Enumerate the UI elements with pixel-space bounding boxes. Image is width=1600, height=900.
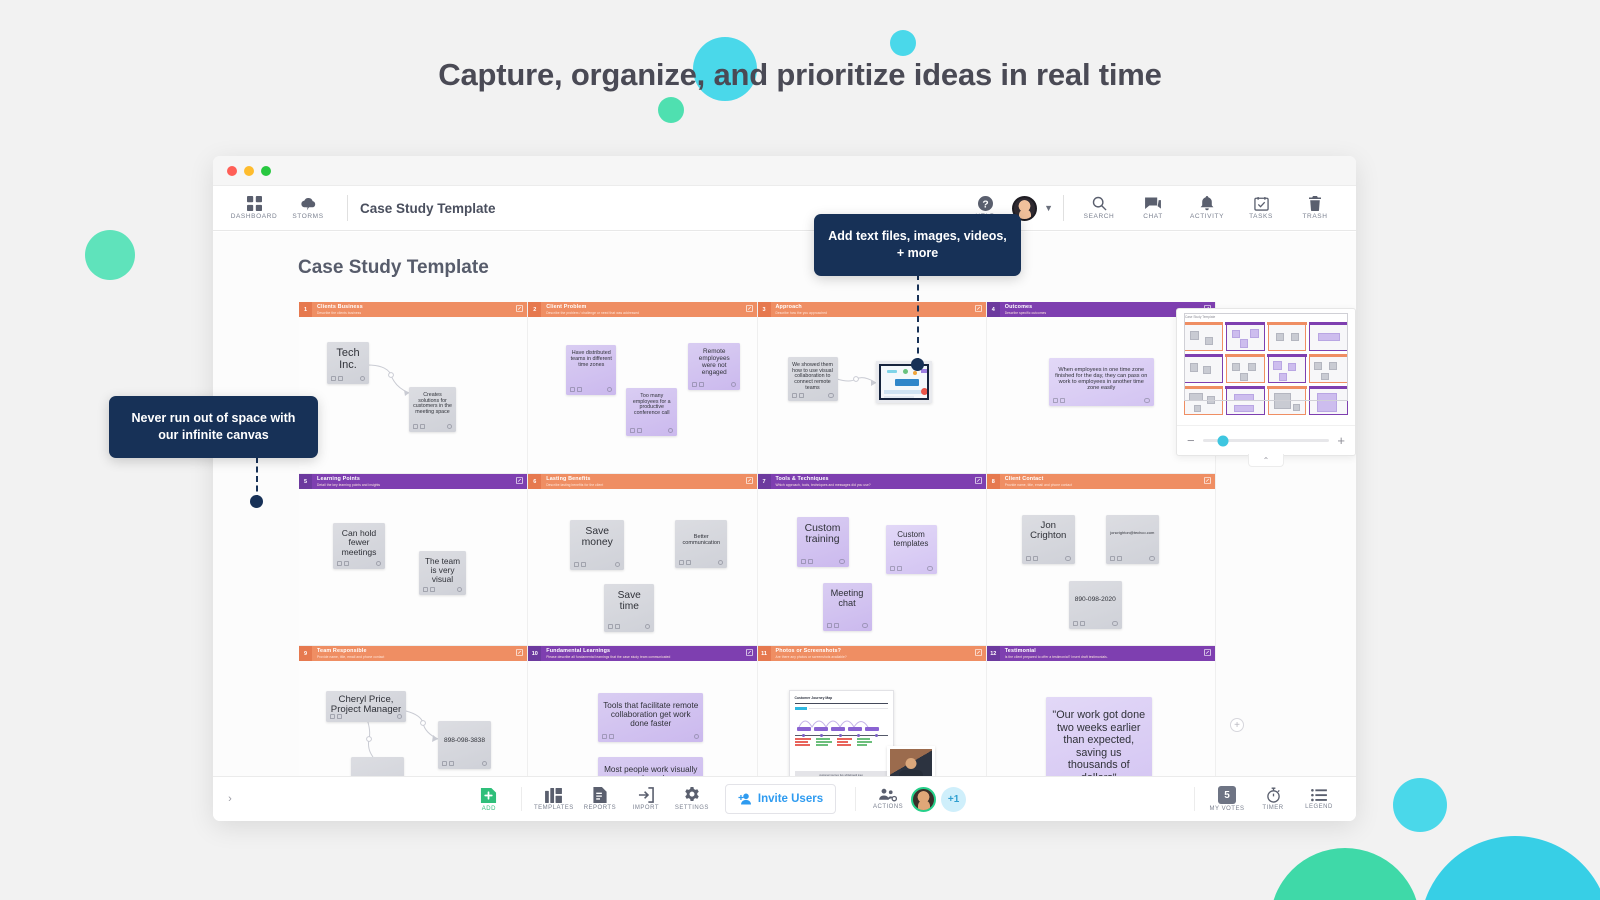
check-icon[interactable] (1144, 398, 1150, 404)
nav-storms-label: STORMS (292, 213, 323, 220)
tooltip-endpoint-dot-files (911, 358, 924, 371)
comment-icon[interactable] (801, 559, 806, 564)
frame-number: 2 (528, 302, 541, 317)
check-icon[interactable] (376, 561, 382, 567)
note-text: Jon Crighton (1026, 521, 1071, 542)
window-maximize-button[interactable] (261, 166, 271, 176)
comment-icon[interactable] (679, 560, 684, 565)
decor-dot-cyan-br2 (1420, 836, 1600, 900)
grid-icon (247, 196, 262, 211)
tooltip-text: Never run out of space with our infinite… (123, 410, 304, 444)
frame-edit-icon[interactable] (516, 305, 523, 312)
attach-icon[interactable] (897, 566, 902, 571)
sticky-note[interactable]: The team is very visual (419, 551, 466, 595)
zoom-out-button[interactable]: − (1187, 433, 1195, 448)
check-icon[interactable] (1065, 556, 1071, 562)
attach-icon[interactable] (699, 382, 704, 387)
frame-number: 4 (987, 302, 1000, 317)
frame-subtitle: Please describe all fundamental learning… (546, 655, 752, 659)
frame-title: Client Problem (546, 304, 752, 310)
frame-tools-techniques[interactable]: 7 Tools & Techniques Which approach, too… (758, 474, 987, 646)
frame-subtitle: Describe the problem / challenge or need… (546, 311, 752, 315)
note-text: Meeting chat (827, 589, 868, 609)
comment-icon[interactable] (570, 387, 575, 392)
legend-list-icon (1311, 789, 1327, 802)
frame-number: 12 (987, 646, 1000, 661)
frame-subtitle: Which approach, tools, techniques and me… (776, 483, 982, 487)
frame-content: Cheryl Price, Project Manager 898-098-38… (305, 661, 527, 776)
frame-header: 7 Tools & Techniques Which approach, too… (758, 474, 986, 489)
bottom-toolbar-center: ADD TEMPLATES REPORTS (247, 784, 1185, 814)
frame-header: 12 Testimonial Is the client prepared to… (987, 646, 1215, 661)
note-footer (423, 587, 462, 593)
reports-button[interactable]: REPORTS (577, 787, 623, 811)
nav-trash[interactable]: TRASH (1288, 196, 1342, 220)
frame-content: Jon Crighton joncrighton@techco.com 890-… (993, 489, 1215, 645)
note-text: Tools that facilitate remote collaborati… (602, 702, 699, 729)
frame-header-body: Client Contact Provide name, title, emai… (1000, 474, 1215, 489)
page-title: Capture, organize, and prioritize ideas … (0, 57, 1600, 93)
check-icon[interactable] (457, 587, 463, 593)
note-footer (692, 382, 736, 388)
timer-icon (1266, 787, 1281, 803)
frame-header: 10 Fundamental Learnings Please describe… (528, 646, 756, 661)
attach-icon[interactable] (1080, 621, 1085, 626)
my-votes-label: MY VOTES (1210, 806, 1245, 812)
attach-icon[interactable] (577, 387, 582, 392)
note-footer (827, 623, 868, 629)
search-icon (1092, 196, 1107, 211)
frame-subtitle: Provide name, title, email and phone con… (317, 655, 523, 659)
window-titlebar (213, 156, 1356, 186)
add-note-icon (480, 787, 497, 804)
note-footer (801, 559, 845, 565)
comment-icon[interactable] (692, 382, 697, 387)
tasks-calendar-icon (1254, 196, 1269, 211)
chevron-down-icon[interactable]: ▼ (1044, 203, 1053, 213)
frame-number: 1 (299, 302, 312, 317)
media-screen (881, 366, 927, 398)
comment-icon[interactable] (630, 428, 635, 433)
frame-title: Approach (776, 304, 982, 310)
sticky-note[interactable]: When employees in one time zone finished… (1049, 358, 1154, 406)
frame-title: Lasting Benefits (546, 476, 752, 482)
frame-row-2: 5 Learning Points Detail the key learnin… (299, 474, 1216, 646)
svg-text:?: ? (982, 199, 988, 210)
sticky-note[interactable]: Meeting chat (823, 583, 872, 631)
sticky-note[interactable] (351, 757, 404, 776)
chat-icon (1145, 197, 1161, 211)
additional-users-badge[interactable]: +1 (941, 787, 966, 812)
invite-users-button[interactable]: Invite Users (725, 784, 836, 814)
frame-title: Clients Business (317, 304, 523, 310)
frame-number: 10 (528, 646, 541, 661)
decor-dot-cyan-br (1393, 778, 1447, 832)
frame-subtitle: Provide name, title, email and phone con… (1005, 483, 1211, 487)
bottom-toolbar-right: 5 MY VOTES TIMER LEGEND (1185, 786, 1356, 812)
sticky-note[interactable]: Jon Crighton (1022, 515, 1075, 564)
comment-icon[interactable] (330, 714, 335, 719)
frame-header: 6 Lasting Benefits Describe lasting bene… (528, 474, 756, 489)
frame-photos-screenshots[interactable]: 11 Photos or Screenshots? Are there any … (758, 646, 987, 776)
frame-number: 6 (528, 474, 541, 489)
nav-search[interactable]: SEARCH (1072, 196, 1126, 220)
attach-icon[interactable] (686, 560, 691, 565)
frame-edit-icon[interactable] (746, 477, 753, 484)
note-text: joncrighton@techco.com (1110, 531, 1154, 535)
frame-fundamental-learnings[interactable]: 10 Fundamental Learnings Please describe… (528, 646, 757, 776)
check-icon[interactable] (397, 714, 403, 720)
frame-number: 5 (299, 474, 312, 489)
note-footer (679, 560, 723, 566)
check-icon[interactable] (615, 562, 621, 568)
sticky-note[interactable]: 890-098-2020 (1069, 581, 1122, 629)
invite-users-label: Invite Users (758, 793, 823, 805)
frame-edit-icon[interactable] (516, 477, 523, 484)
window-close-button[interactable] (227, 166, 237, 176)
add-button[interactable]: ADD (466, 787, 512, 812)
frame-edit-icon[interactable] (975, 477, 982, 484)
frame-learning-points[interactable]: 5 Learning Points Detail the key learnin… (299, 474, 528, 646)
reports-label: REPORTS (584, 805, 616, 811)
frame-edit-icon[interactable] (1204, 649, 1211, 656)
frame-edit-icon[interactable] (746, 305, 753, 312)
nav-activity-label: ACTIVITY (1190, 213, 1224, 220)
frame-header-body: Tools & Techniques Which approach, tools… (771, 474, 986, 489)
frame-title: Testimonial (1005, 648, 1211, 654)
check-icon[interactable] (828, 393, 834, 399)
attach-icon[interactable] (1117, 556, 1122, 561)
frame-header: 9 Team Responsible Provide name, title, … (299, 646, 527, 661)
decor-dot-cyan-small (890, 30, 916, 56)
attach-icon[interactable] (609, 734, 614, 739)
toolbar-divider-2 (855, 787, 856, 811)
frame-number: 11 (758, 646, 771, 661)
help-icon: ? (978, 196, 993, 211)
comment-icon[interactable] (1073, 621, 1078, 626)
attach-icon[interactable] (615, 624, 620, 629)
attach-icon[interactable] (337, 714, 342, 719)
check-icon[interactable] (668, 428, 674, 434)
frame-header: 8 Client Contact Provide name, title, em… (987, 474, 1215, 489)
frame-header-body: Learning Points Detail the key learning … (312, 474, 527, 489)
sticky-note[interactable]: Too many employees for a productive conf… (626, 388, 677, 436)
frame-title: Learning Points (317, 476, 523, 482)
minimap-viewport[interactable] (1184, 313, 1348, 401)
frame-title: Tools & Techniques (776, 476, 982, 482)
attach-icon[interactable] (834, 623, 839, 628)
import-arrow-icon (638, 787, 654, 803)
tooltip-add-files: Add text files, images, videos, + more (814, 214, 1021, 276)
note-text: Save time (608, 590, 650, 612)
comment-icon[interactable] (608, 624, 613, 629)
check-icon[interactable] (839, 559, 845, 565)
check-icon[interactable] (718, 560, 724, 566)
note-text: Better communication (679, 534, 723, 546)
templates-label: TEMPLATES (534, 805, 574, 811)
frame-content: Tools that facilitate remote collaborati… (534, 661, 756, 776)
frame-content: "Our work got done two weeks earlier tha… (993, 661, 1215, 776)
attach-icon[interactable] (637, 428, 642, 433)
check-icon[interactable] (1112, 621, 1118, 627)
nav-tasks[interactable]: TASKS (1234, 196, 1288, 220)
frame-subtitle: Are there any photos or screenshots avai… (776, 655, 982, 659)
import-button[interactable]: IMPORT (623, 787, 669, 811)
frame-header-body: Client Problem Describe the problem / ch… (541, 302, 756, 317)
note-footer (442, 761, 487, 767)
note-footer (574, 562, 620, 568)
nav-tasks-label: TASKS (1249, 213, 1273, 220)
toolbar-divider (521, 787, 522, 811)
canvas-board-title: Case Study Template (298, 257, 489, 279)
attach-icon[interactable] (799, 393, 804, 398)
attach-icon[interactable] (449, 761, 454, 766)
zoom-slider-thumb[interactable] (1217, 435, 1228, 446)
frame-client-problem[interactable]: 2 Client Problem Describe the problem / … (528, 302, 757, 474)
attach-icon[interactable] (1060, 398, 1065, 403)
nav-chat[interactable]: CHAT (1126, 197, 1180, 220)
frame-subtitle: Describe how the you approached (776, 311, 982, 315)
decor-dot-mint-small (658, 97, 684, 123)
sticky-note[interactable]: Better communication (675, 520, 727, 568)
sticky-note[interactable]: Remote employees were not engaged (688, 343, 740, 390)
add-person-icon (738, 793, 752, 805)
check-icon[interactable] (927, 566, 933, 572)
tooltip-infinite-canvas: Never run out of space with our infinite… (109, 396, 318, 458)
comment-icon[interactable] (1110, 556, 1115, 561)
comment-icon[interactable] (423, 587, 428, 592)
timer-label: TIMER (1262, 805, 1283, 811)
frame-number: 9 (299, 646, 312, 661)
nav-dashboard[interactable]: DASHBOARD (227, 196, 281, 220)
comment-icon[interactable] (442, 761, 447, 766)
frame-subtitle: Describe lasting benefits for the client (546, 483, 752, 487)
frame-header: 3 Approach Describe how the you approach… (758, 302, 986, 317)
actions-people-icon (879, 788, 897, 802)
frame-edit-icon[interactable] (516, 649, 523, 656)
note-text: Tech Inc. (331, 348, 365, 372)
sticky-note[interactable]: "Our work got done two weeks earlier tha… (1046, 697, 1152, 776)
import-label: IMPORT (633, 805, 659, 811)
frame-content: Customer Journey Map (764, 661, 986, 776)
frame-header-body: Approach Describe how the you approached (771, 302, 986, 317)
sidebar-expand-button[interactable]: › (213, 793, 247, 805)
attach-icon[interactable] (1033, 556, 1038, 561)
page-root: Capture, organize, and prioritize ideas … (0, 0, 1600, 900)
frame-header-body: Clients Business Describe the clients bu… (312, 302, 527, 317)
frame-edit-icon[interactable] (975, 649, 982, 656)
frame-header: 1 Clients Business Describe the clients … (299, 302, 527, 317)
note-footer (337, 561, 381, 567)
nav-storms[interactable]: STORMS (281, 197, 335, 220)
frame-clients-business[interactable]: 1 Clients Business Describe the clients … (299, 302, 528, 474)
nav-activity[interactable]: ACTIVITY (1180, 196, 1234, 220)
attach-icon[interactable] (581, 562, 586, 567)
frame-lasting-benefits[interactable]: 6 Lasting Benefits Describe lasting bene… (528, 474, 757, 646)
app-header: DASHBOARD STORMS Case Study Template ? H… (213, 186, 1356, 231)
check-icon[interactable] (1149, 556, 1155, 562)
attach-icon[interactable] (344, 561, 349, 566)
frame-header: 5 Learning Points Detail the key learnin… (299, 474, 527, 489)
check-icon[interactable] (694, 734, 700, 740)
sticky-note[interactable]: Most people work visually and need a (598, 757, 703, 776)
avatar[interactable] (911, 787, 936, 812)
board-canvas[interactable]: Case Study Template 1 Clients Business D… (213, 232, 1356, 776)
trash-icon (1308, 196, 1322, 211)
actions-button[interactable]: ACTIONS (865, 788, 911, 810)
note-text: 898-098-3838 (444, 737, 485, 744)
frame-number: 7 (758, 474, 771, 489)
frame-approach[interactable]: 3 Approach Describe how the you approach… (758, 302, 987, 474)
decor-dot-mint-large (85, 230, 135, 280)
header-divider (347, 195, 348, 221)
note-text: We showed them how to use visual collabo… (792, 363, 834, 392)
comment-icon[interactable] (792, 393, 797, 398)
check-icon[interactable] (731, 382, 737, 388)
window-minimize-button[interactable] (244, 166, 254, 176)
sticky-note[interactable]: Save time (604, 584, 654, 632)
note-footer (330, 714, 402, 720)
sticky-note[interactable]: Custom training (797, 517, 849, 567)
note-text: Custom templates (890, 531, 933, 548)
comment-icon[interactable] (574, 562, 579, 567)
templates-icon (545, 788, 562, 803)
note-footer (570, 387, 612, 393)
note-text: "Our work got done two weeks earlier tha… (1050, 709, 1148, 776)
attach-icon[interactable] (420, 424, 425, 429)
frame-title: Photos or Screenshots? (776, 648, 982, 654)
check-icon[interactable] (607, 387, 613, 393)
journey-map-title: Customer Journey Map (795, 696, 888, 700)
frame-content: We showed them how to use visual collabo… (764, 317, 986, 473)
attach-icon[interactable] (430, 587, 435, 592)
frame-edit-icon[interactable] (1204, 477, 1211, 484)
check-icon[interactable] (862, 623, 868, 629)
check-icon[interactable] (447, 424, 453, 430)
check-icon[interactable] (482, 761, 488, 767)
frame-header-body: Photos or Screenshots? Are there any pho… (771, 646, 986, 661)
sticky-note[interactable]: We showed them how to use visual collabo… (788, 357, 838, 401)
frame-team-responsible[interactable]: 9 Team Responsible Provide name, title, … (299, 646, 528, 776)
sticky-note[interactable]: Can hold fewer meetings (333, 523, 385, 569)
minimap-collapse-handle[interactable]: ⌃ (1248, 454, 1284, 467)
note-footer (630, 428, 673, 434)
zoom-slider[interactable] (1203, 439, 1330, 442)
frame-number: 8 (987, 474, 1000, 489)
frame-client-contact[interactable]: 8 Client Contact Provide name, title, em… (987, 474, 1216, 646)
note-text: The team is very visual (423, 557, 462, 584)
decor-dot-mint-br (1270, 848, 1420, 900)
comment-icon[interactable] (1053, 398, 1058, 403)
comment-icon[interactable] (602, 734, 607, 739)
sticky-note[interactable]: Save money (570, 520, 624, 570)
templates-button[interactable]: TEMPLATES (531, 788, 577, 811)
check-icon[interactable] (360, 376, 366, 382)
my-votes-button[interactable]: 5 MY VOTES (1204, 786, 1250, 812)
note-footer (413, 424, 452, 430)
note-text: Creates solutions for customers in the m… (413, 393, 452, 416)
comment-icon[interactable] (890, 566, 895, 571)
note-text: When employees in one time zone finished… (1053, 367, 1150, 391)
settings-label: SETTINGS (675, 805, 709, 811)
legend-button[interactable]: LEGEND (1296, 789, 1342, 810)
sticky-note[interactable]: Cheryl Price, Project Manager (326, 691, 406, 722)
frame-testimonial[interactable]: 12 Testimonial Is the client prepared to… (987, 646, 1216, 776)
frame-row-3: 9 Team Responsible Provide name, title, … (299, 646, 1216, 776)
nav-search-label: SEARCH (1084, 213, 1115, 220)
note-footer (1073, 621, 1118, 627)
bottom-toolbar: › ADD TEMPLATES (213, 776, 1356, 821)
gear-icon (684, 787, 700, 803)
note-text: 890-098-2020 (1075, 596, 1116, 603)
comment-icon[interactable] (331, 376, 336, 381)
board-title: Case Study Template (360, 201, 496, 216)
tooltip-connector-line-files (917, 274, 919, 364)
sticky-note[interactable]: Creates solutions for customers in the m… (409, 387, 456, 432)
note-footer (331, 376, 365, 382)
zoom-in-button[interactable]: + (1337, 433, 1345, 448)
sticky-note[interactable]: 898-098-3838 (438, 721, 491, 769)
comment-icon[interactable] (413, 424, 418, 429)
frame-edit-icon[interactable] (746, 649, 753, 656)
note-footer (608, 624, 650, 630)
comment-icon[interactable] (337, 561, 342, 566)
note-footer (1026, 556, 1071, 562)
sticky-note[interactable]: joncrighton@techco.com (1106, 515, 1159, 564)
note-text: Save money (574, 526, 620, 548)
frame-number: 3 (758, 302, 771, 317)
frame-content: Custom training Custom templates Meeting… (764, 489, 986, 645)
zoom-controls: − + (1177, 425, 1355, 455)
sticky-note[interactable]: Custom templates (886, 525, 937, 574)
check-icon[interactable] (645, 624, 651, 630)
comment-icon[interactable] (827, 623, 832, 628)
timer-button[interactable]: TIMER (1250, 787, 1296, 811)
attach-icon[interactable] (338, 376, 343, 381)
frame-edit-icon[interactable] (975, 305, 982, 312)
note-text: Custom training (801, 523, 845, 545)
frame-header-body: Fundamental Learnings Please describe al… (541, 646, 756, 661)
comment-icon[interactable] (1026, 556, 1031, 561)
nav-chat-label: CHAT (1143, 213, 1163, 220)
note-footer (792, 393, 834, 399)
nav-dashboard-label: DASHBOARD (231, 213, 278, 220)
sticky-note[interactable]: Tools that facilitate remote collaborati… (598, 693, 703, 742)
frame-title: Fundamental Learnings (546, 648, 752, 654)
frame-header: 11 Photos or Screenshots? Are there any … (758, 646, 986, 661)
frame-grid: 1 Clients Business Describe the clients … (299, 302, 1216, 776)
frame-header-body: Team Responsible Provide name, title, em… (312, 646, 527, 661)
add-node-button[interactable]: + (1230, 718, 1244, 732)
legend-label: LEGEND (1305, 804, 1333, 810)
sticky-note[interactable]: Have distributed teams in different time… (566, 345, 616, 395)
journey-map-image[interactable]: Customer Journey Map (789, 690, 894, 776)
minimap-panel[interactable]: Case Study Template (1176, 308, 1356, 456)
attach-icon[interactable] (808, 559, 813, 564)
settings-button[interactable]: SETTINGS (669, 787, 715, 811)
frame-content: Save money Better communication Save tim… (534, 489, 756, 645)
frame-subtitle: Describe the clients business (317, 311, 523, 315)
sticky-note[interactable]: Tech Inc. (327, 342, 369, 384)
photo-thumbnail[interactable] (887, 746, 935, 776)
frame-subtitle: Is the client prepared to offer a testim… (1005, 655, 1211, 659)
frame-row-1: 1 Clients Business Describe the clients … (299, 302, 1216, 474)
frame-title: Client Contact (1005, 476, 1211, 482)
frame-content: Have distributed teams in different time… (534, 317, 756, 473)
note-text: Remote employees were not engaged (692, 349, 736, 377)
note-text: Can hold fewer meetings (337, 529, 381, 557)
cloud-icon (300, 197, 317, 211)
